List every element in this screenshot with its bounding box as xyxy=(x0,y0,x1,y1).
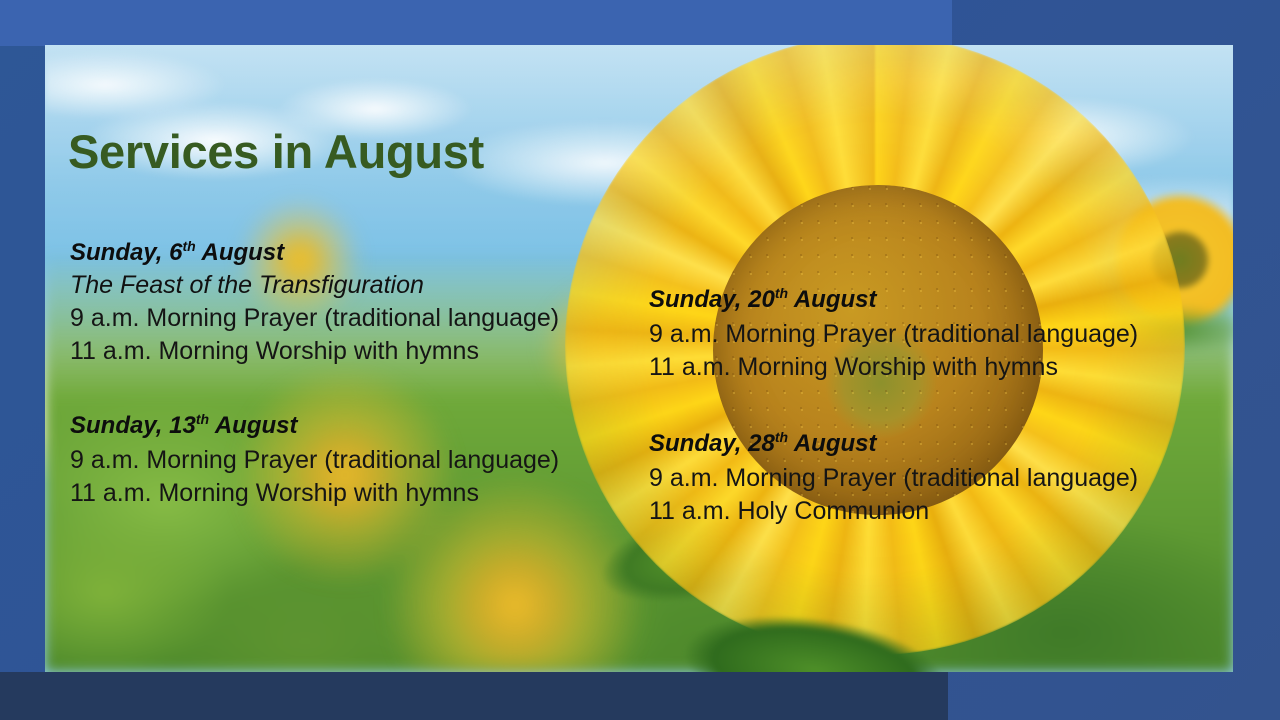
service-date: Sunday, 20th August xyxy=(649,285,1224,314)
service-date-suffix: August xyxy=(196,239,284,266)
decorative-band-bottom xyxy=(0,672,948,720)
service-date-suffix: August xyxy=(788,430,876,457)
service-date-ordinal: th xyxy=(775,285,788,301)
service-block: Sunday, 13th August 9 a.m. Morning Praye… xyxy=(70,411,640,509)
service-date-ordinal: th xyxy=(775,429,788,445)
service-line: 11 a.m. Morning Worship with hymns xyxy=(649,351,1224,384)
service-date-prefix: Sunday, 20 xyxy=(649,286,775,313)
service-block: Sunday, 28th August 9 a.m. Morning Praye… xyxy=(649,429,1224,527)
service-line: 9 a.m. Morning Prayer (traditional langu… xyxy=(649,318,1224,351)
service-line: 11 a.m. Holy Communion xyxy=(649,495,1224,528)
service-line: 9 a.m. Morning Prayer (traditional langu… xyxy=(649,462,1224,495)
service-line: 11 a.m. Morning Worship with hymns xyxy=(70,477,640,510)
service-date: Sunday, 13th August xyxy=(70,411,640,440)
slide: Services in August Sunday, 6th August Th… xyxy=(0,0,1280,720)
service-date-prefix: Sunday, 6 xyxy=(70,239,182,266)
service-subtitle: The Feast of the Transfiguration xyxy=(70,271,640,300)
service-date-ordinal: th xyxy=(182,238,195,254)
service-date: Sunday, 28th August xyxy=(649,429,1224,458)
service-line: 9 a.m. Morning Prayer (traditional langu… xyxy=(70,302,640,335)
service-date-prefix: Sunday, 28 xyxy=(649,430,775,457)
service-date: Sunday, 6th August xyxy=(70,238,640,267)
service-date-suffix: August xyxy=(209,412,297,439)
service-date-ordinal: th xyxy=(196,411,209,427)
service-date-suffix: August xyxy=(788,286,876,313)
service-line: 11 a.m. Morning Worship with hymns xyxy=(70,335,640,368)
services-column-right: Sunday, 20th August 9 a.m. Morning Praye… xyxy=(649,285,1224,527)
service-line: 9 a.m. Morning Prayer (traditional langu… xyxy=(70,444,640,477)
service-date-prefix: Sunday, 13 xyxy=(70,412,196,439)
decorative-band-top xyxy=(0,0,952,46)
service-block: Sunday, 6th August The Feast of the Tran… xyxy=(70,238,640,367)
services-column-left: Sunday, 6th August The Feast of the Tran… xyxy=(70,238,640,509)
service-block: Sunday, 20th August 9 a.m. Morning Praye… xyxy=(649,285,1224,383)
page-title: Services in August xyxy=(68,124,484,179)
